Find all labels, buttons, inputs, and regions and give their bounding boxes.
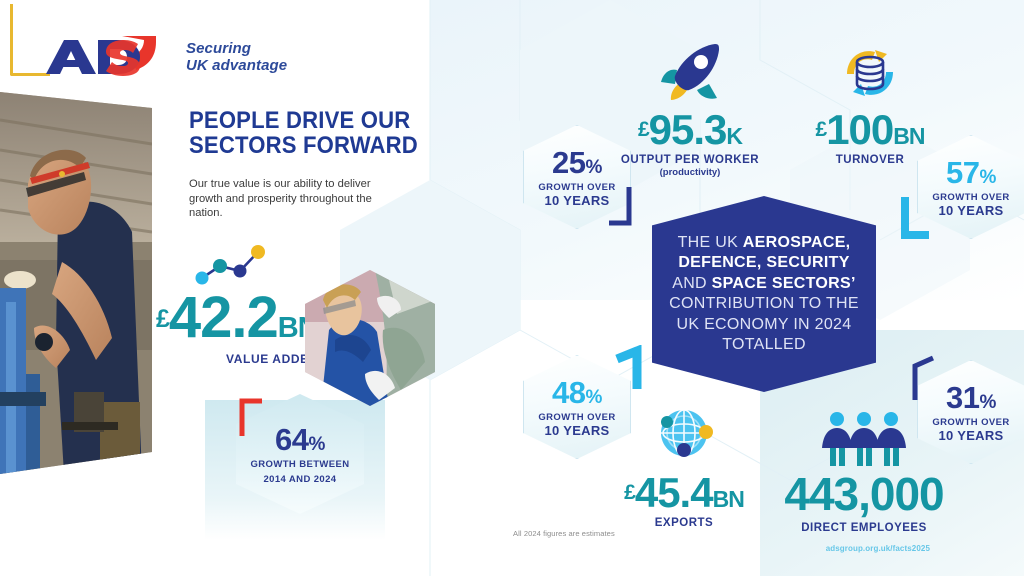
growth-64-symbol: % <box>309 434 325 455</box>
page-title: PEOPLE DRIVE OUR SECTORS FORWARD <box>189 108 419 158</box>
intro-body-text: Our true value is our ability to deliver… <box>189 177 404 221</box>
growth-57-number: 57 <box>946 155 979 190</box>
output-per-worker-value: 95.3 <box>649 106 727 153</box>
headline-line-1: PEOPLE DRIVE OUR <box>189 108 419 133</box>
direct-employees-caption: DIRECT EMPLOYEES <box>772 522 956 534</box>
center-line-3-plain: AND <box>672 275 711 292</box>
center-statement-hex: THE UK AEROSPACE, DEFENCE, SECURITY AND … <box>652 196 876 392</box>
tagline-line-1: Securing <box>186 40 287 57</box>
center-statement-text: THE UK AEROSPACE, DEFENCE, SECURITY AND … <box>655 233 873 356</box>
output-per-worker-figure: £95.3K <box>604 109 776 151</box>
exports-currency: £ <box>624 481 635 504</box>
output-per-worker-caption: OUTPUT PER WORKER <box>604 154 776 166</box>
output-per-worker-currency: £ <box>638 118 649 141</box>
center-line-5: UK ECONOMY IN 2024 <box>677 316 852 333</box>
intro-body-line-2: growth and prosperity throughout the nat… <box>189 192 404 221</box>
stat-exports: £45.4BN EXPORTS <box>598 405 770 529</box>
center-line-4: CONTRIBUTION TO THE <box>669 295 859 312</box>
growth-57-symbol: % <box>980 167 996 188</box>
brand-tagline: Securing UK advantage <box>186 40 287 74</box>
stat-turnover: £100BN TURNOVER <box>790 42 950 166</box>
growth-64-line-2: 2014 AND 2024 <box>264 474 337 485</box>
value-added-value: 42.2 <box>169 285 278 350</box>
exports-value: 45.4 <box>635 469 713 516</box>
exports-figure: £45.4BN <box>598 472 770 514</box>
ads-logo-icon <box>44 34 172 80</box>
footnote-text: All 2024 figures are estimates <box>513 529 615 538</box>
direct-employees-figure: 443,000 <box>772 471 956 517</box>
photo-engineer-image <box>0 92 152 474</box>
rocket-icon <box>657 42 723 104</box>
stat-output-per-worker: £95.3K OUTPUT PER WORKER (productivity) <box>604 42 776 178</box>
growth-48-number: 48 <box>552 375 585 410</box>
growth-64-hex[interactable]: 64% GROWTH BETWEEN 2014 AND 2024 <box>236 394 364 514</box>
exports-unit: BN <box>713 486 744 512</box>
photo-engineer <box>0 92 152 474</box>
infographic-canvas: Securing UK advantage <box>0 0 1024 576</box>
growth-31-symbol: % <box>980 392 996 413</box>
headline-line-2: SECTORS FORWARD <box>189 133 419 158</box>
center-line-2-bold: DEFENCE, SECURITY <box>678 254 849 271</box>
turnover-caption: TURNOVER <box>790 154 950 166</box>
turnover-currency: £ <box>816 118 827 141</box>
source-url[interactable]: adsgroup.org.uk/facts2025 <box>730 544 930 553</box>
turnover-unit: BN <box>893 123 924 149</box>
growth-25-line-2: 10 YEARS <box>544 193 609 208</box>
brand-logo[interactable]: Securing UK advantage <box>44 34 334 80</box>
growth-64-number: 64 <box>275 422 308 457</box>
center-line-1-plain: THE UK <box>678 234 743 251</box>
growth-25-symbol: % <box>586 157 602 178</box>
growth-25-number: 25 <box>552 145 585 180</box>
growth-64-line-1: GROWTH BETWEEN <box>250 459 349 470</box>
people-icon <box>821 410 907 466</box>
output-per-worker-unit: K <box>726 123 742 149</box>
growth-25-line-1: GROWTH OVER <box>538 182 615 193</box>
coins-cycle-icon <box>835 42 905 104</box>
stat-direct-employees: 443,000 DIRECT EMPLOYEES <box>772 410 956 534</box>
growth-57-line-2: 10 YEARS <box>938 203 1003 218</box>
exports-caption: EXPORTS <box>598 517 770 529</box>
growth-57-line-1: GROWTH OVER <box>932 192 1009 203</box>
turnover-value: 100 <box>826 106 893 153</box>
output-per-worker-sub: (productivity) <box>604 167 776 178</box>
intro-body-line-1: Our true value is our ability to deliver <box>189 177 404 192</box>
center-line-3-bold: SPACE SECTORS’ <box>712 275 856 292</box>
value-added-currency: £ <box>156 305 169 333</box>
direct-employees-value: 443,000 <box>784 468 943 520</box>
tagline-line-2: UK advantage <box>186 57 287 74</box>
turnover-figure: £100BN <box>790 109 950 151</box>
center-line-1-bold: AEROSPACE, <box>743 234 851 251</box>
line-chart-icon <box>192 244 282 286</box>
center-line-6: TOTALLED <box>722 336 806 353</box>
globe-icon <box>651 405 717 467</box>
